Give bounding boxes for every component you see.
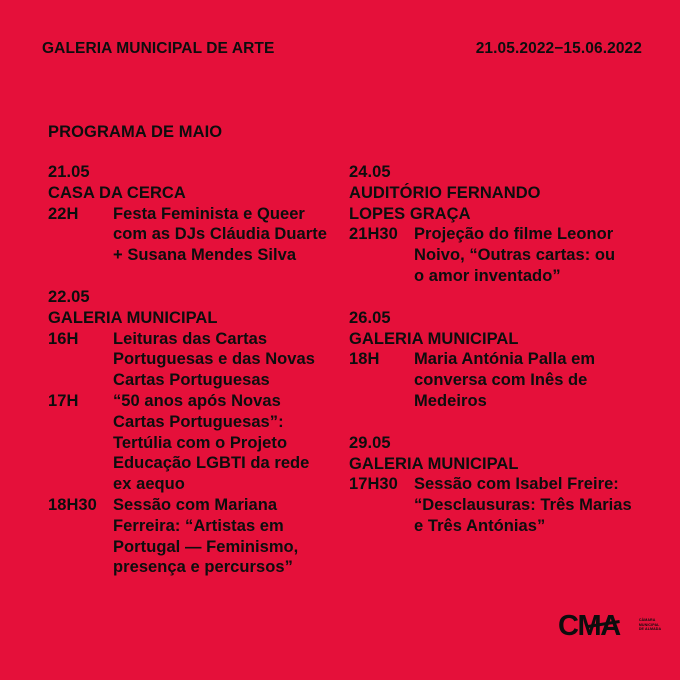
day-date: 21.05 (48, 162, 348, 183)
cma-logo: CMA Câmara Municipal de Almada (558, 612, 661, 641)
day-venue: AUDITÓRIO FERNANDO LOPES GRAÇA (349, 183, 648, 225)
day-venue: GALERIA MUNICIPAL (349, 329, 648, 350)
event-time: 17H (48, 391, 113, 412)
list-item: 18H Maria Antónia Palla em conversa com … (349, 349, 648, 411)
day-date: 22.05 (48, 287, 348, 308)
program-columns: 21.05 CASA DA CERCA 22H Festa Feminista … (48, 162, 648, 578)
cma-logo-mark: CMA (558, 612, 620, 641)
day-venue: GALERIA MUNICIPAL (349, 454, 648, 475)
event-list: 17H30 Sessão com Isabel Freire: “Desclau… (349, 474, 648, 536)
list-item: 17H30 Sessão com Isabel Freire: “Desclau… (349, 474, 648, 536)
day-venue: CASA DA CERCA (48, 183, 348, 204)
event-time: 21H30 (349, 224, 414, 245)
day-date: 24.05 (349, 162, 648, 183)
day-block: 26.05 GALERIA MUNICIPAL 18H Maria Antóni… (349, 308, 648, 412)
event-description: Maria Antónia Palla em conversa com Inês… (414, 349, 648, 411)
day-block: 24.05 AUDITÓRIO FERNANDO LOPES GRAÇA 21H… (349, 162, 648, 287)
event-list: 21H30 Projeção do filme Leonor Noivo, “O… (349, 224, 648, 286)
day-block: 22.05 GALERIA MUNICIPAL 16H Leituras das… (48, 287, 348, 578)
poster-canvas: GALERIA MUNICIPAL DE ARTE 21.05.2022−15.… (0, 0, 680, 680)
list-item: 18H30 Sessão com Mariana Ferreira: “Arti… (48, 495, 348, 578)
event-description: Sessão com Mariana Ferreira: “Artistas e… (113, 495, 348, 578)
list-item: 16H Leituras das Cartas Portuguesas e da… (48, 329, 348, 391)
masthead: GALERIA MUNICIPAL DE ARTE 21.05.2022−15.… (42, 41, 642, 57)
list-item: 17H “50 anos após Novas Cartas Portugues… (48, 391, 348, 495)
exhibition-date-range: 21.05.2022−15.06.2022 (476, 41, 642, 57)
event-time: 22H (48, 204, 113, 225)
day-date: 29.05 (349, 433, 648, 454)
day-block: 21.05 CASA DA CERCA 22H Festa Feminista … (48, 162, 348, 266)
event-time: 18H (349, 349, 414, 370)
event-description: Leituras das Cartas Portuguesas e das No… (113, 329, 348, 391)
day-block: 29.05 GALERIA MUNICIPAL 17H30 Sessão com… (349, 433, 648, 537)
event-list: 16H Leituras das Cartas Portuguesas e da… (48, 329, 348, 579)
event-description: Sessão com Isabel Freire: “Desclausuras:… (414, 474, 648, 536)
event-time: 18H30 (48, 495, 113, 516)
institution-title: GALERIA MUNICIPAL DE ARTE (42, 41, 274, 57)
day-venue: GALERIA MUNICIPAL (48, 308, 348, 329)
day-date: 26.05 (349, 308, 648, 329)
cma-logo-wordmark: Câmara Municipal de Almada (639, 618, 661, 632)
left-column: 21.05 CASA DA CERCA 22H Festa Feminista … (48, 162, 348, 578)
event-list: 22H Festa Feminista e Queer com as DJs C… (48, 204, 348, 266)
right-column: 24.05 AUDITÓRIO FERNANDO LOPES GRAÇA 21H… (348, 162, 648, 578)
event-time: 16H (48, 329, 113, 350)
event-time: 17H30 (349, 474, 414, 495)
event-description: Festa Feminista e Queer com as DJs Cláud… (113, 204, 348, 266)
list-item: 22H Festa Feminista e Queer com as DJs C… (48, 204, 348, 266)
event-list: 18H Maria Antónia Palla em conversa com … (349, 349, 648, 411)
event-description: “50 anos após Novas Cartas Portuguesas”:… (113, 391, 348, 495)
page-title: PROGRAMA DE MAIO (48, 124, 222, 141)
list-item: 21H30 Projeção do filme Leonor Noivo, “O… (349, 224, 648, 286)
event-description: Projeção do filme Leonor Noivo, “Outras … (414, 224, 648, 286)
